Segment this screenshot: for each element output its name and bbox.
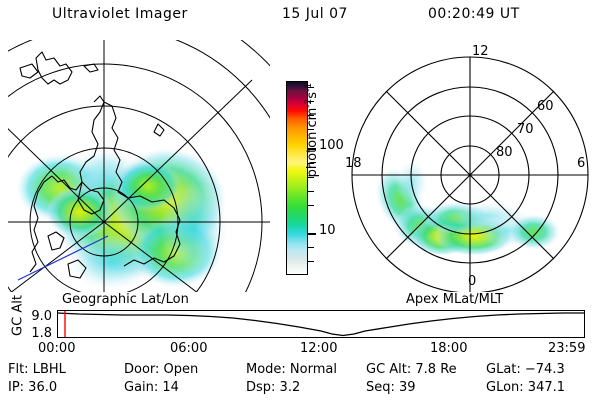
status-gc-alt: GC Alt: 7.8 Re: [366, 362, 457, 377]
apex-aurora-emission: [366, 160, 560, 256]
colorbar: 100 10 photon cm-2s-1: [286, 78, 336, 278]
uvi-screenshot: Ultraviolet Imager 15 Jul 07 00:20:49 UT: [0, 0, 600, 400]
apex-plot[interactable]: [338, 40, 596, 292]
time-tick-1800: 18:00: [430, 341, 467, 356]
page-title: Ultraviolet Imager: [52, 6, 188, 22]
geographic-panel-caption: Geographic Lat/Lon: [62, 292, 189, 307]
apex-mlt-label-6: 6: [577, 156, 585, 171]
time-tick-0600: 06:00: [170, 341, 207, 356]
observation-time: 00:20:49 UT: [428, 6, 520, 22]
status-glon: GLon: 347.1: [486, 380, 565, 395]
status-glat: GLat: −74.3: [486, 362, 565, 377]
apex-panel-caption: Apex MLat/MLT: [406, 292, 503, 307]
status-block: Flt: LBHL IP: 36.0 Door: Open Gain: 14 M…: [0, 362, 600, 400]
time-tick-2359: 23:59: [548, 341, 585, 356]
geographic-plot[interactable]: [8, 40, 270, 292]
colorbar-unit-exp1: -2: [304, 99, 314, 108]
geographic-aurora-emission: [16, 148, 228, 290]
apex-mlt-label-12: 12: [472, 44, 489, 59]
apex-mlat-label-70: 70: [517, 122, 534, 137]
time-axis: 00:00 06:00 12:00 18:00 23:59: [0, 341, 600, 357]
colorbar-unit-main: photon cm: [305, 108, 320, 178]
apex-mlt-label-18: 18: [345, 156, 362, 171]
status-mode: Mode: Normal: [246, 362, 337, 377]
colorbar-label-low: 10: [319, 223, 336, 238]
observation-date: 15 Jul 07: [282, 6, 348, 22]
time-tick-0000: 00:00: [38, 341, 75, 356]
status-filter: Flt: LBHL: [8, 362, 66, 377]
altitude-tick-high: 9.0: [22, 309, 52, 324]
altitude-trace: [57, 313, 584, 336]
status-door: Door: Open: [124, 362, 198, 377]
altitude-tick-low: 1.8: [22, 326, 52, 341]
colorbar-unit-label: photon cm-2s-1: [304, 70, 320, 190]
altitude-timeline-plot[interactable]: [57, 310, 585, 338]
apex-mlat-label-60: 60: [537, 99, 554, 114]
status-ip: IP: 36.0: [8, 380, 57, 395]
apex-mlat-label-80: 80: [496, 145, 513, 160]
colorbar-unit-exp2: -1: [304, 83, 314, 92]
colorbar-unit-mid: s: [305, 92, 320, 99]
header: Ultraviolet Imager 15 Jul 07 00:20:49 UT: [0, 6, 600, 28]
apex-mlt-label-0: 0: [468, 274, 476, 289]
time-tick-1200: 12:00: [300, 341, 337, 356]
status-dsp: Dsp: 3.2: [246, 380, 300, 395]
apex-polar-grid: [352, 57, 588, 292]
status-seq: Seq: 39: [366, 380, 416, 395]
status-gain: Gain: 14: [124, 380, 179, 395]
